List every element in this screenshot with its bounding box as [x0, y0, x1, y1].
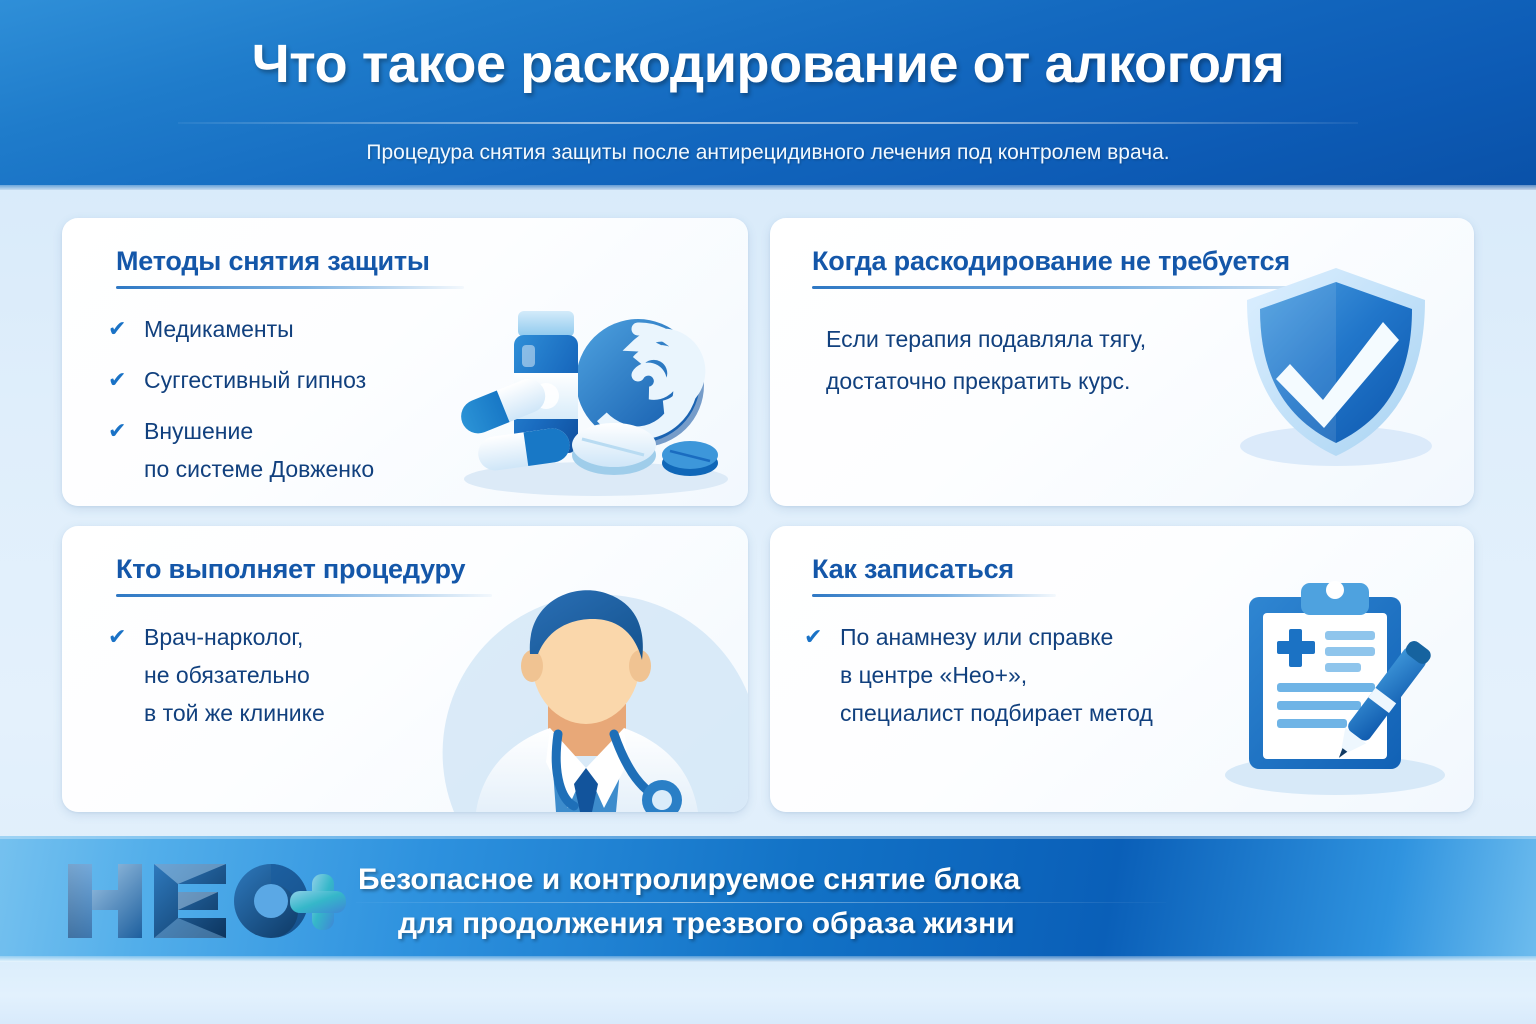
card-how-to-book-underline	[812, 594, 1056, 597]
card-when-not-needed: Когда раскодирование не требуется Если т…	[770, 218, 1474, 506]
page-title: Что такое раскодирование от алкоголя	[0, 33, 1536, 95]
card-who-performs: Кто выполняет процедуру ✔ Врач-нарколог,…	[62, 526, 748, 812]
footer-banner: Безопасное и контролируемое снятие блока…	[0, 836, 1536, 962]
card-grid: Методы снятия защиты ✔ Медикаменты ✔ Суг…	[62, 218, 1474, 812]
check-icon: ✔	[108, 619, 132, 655]
card-when-not-needed-text: Если терапия подавляла тягу, достаточно …	[826, 318, 1146, 402]
shield-check-illustration	[1229, 260, 1444, 478]
list-item-label: Внушение	[144, 418, 253, 444]
check-icon: ✔	[108, 311, 132, 347]
list-item-label: Суггестивный гипноз	[144, 367, 366, 393]
check-icon: ✔	[804, 619, 828, 655]
list-item-label: Медикаменты	[144, 316, 294, 342]
list-item-label-line2: в центре «Нео+»,	[840, 656, 1202, 694]
header-divider	[178, 122, 1358, 124]
footer-tagline-line2: для продолжения трезвого образа жизни	[356, 902, 1356, 946]
header-banner: Что такое раскодирование от алкоголя Про…	[0, 0, 1536, 190]
clipboard-pen-illustration	[1215, 575, 1450, 800]
card-methods-underline	[116, 286, 464, 289]
card-how-to-book-heading: Как записаться	[812, 554, 1014, 585]
page-subtitle: Процедура снятия защиты после антирециди…	[0, 141, 1536, 165]
list-item-label: Врач-нарколог,	[144, 624, 303, 650]
infographic-poster: Что такое раскодирование от алкоголя Про…	[0, 0, 1536, 1024]
check-icon: ✔	[108, 362, 132, 398]
check-icon: ✔	[108, 413, 132, 449]
pills-and-spiral-illustration	[446, 289, 736, 504]
card-how-to-book-bullet-list: ✔ По анамнезу или справке в центре «Нео+…	[802, 618, 1202, 745]
neo-plus-logo	[62, 858, 348, 942]
text-line-2: достаточно прекратить курс.	[826, 360, 1146, 402]
card-how-to-book: Как записаться ✔ По анамнезу или справке…	[770, 526, 1474, 812]
list-item-label-line3: специалист подбирает метод	[840, 694, 1202, 732]
doctor-illustration	[418, 562, 748, 812]
card-methods-heading: Методы снятия защиты	[116, 246, 430, 277]
list-item: ✔ По анамнезу или справке в центре «Нео+…	[802, 618, 1202, 732]
card-when-not-needed-heading: Когда раскодирование не требуется	[812, 246, 1290, 277]
card-methods: Методы снятия защиты ✔ Медикаменты ✔ Суг…	[62, 218, 748, 506]
footer-tagline-line1: Безопасное и контролируемое снятие блока	[356, 858, 1356, 902]
text-line-1: Если терапия подавляла тягу,	[826, 318, 1146, 360]
card-who-performs-heading: Кто выполняет процедуру	[116, 554, 465, 585]
list-item-label: По анамнезу или справке	[840, 624, 1113, 650]
bottom-strip	[0, 962, 1536, 1024]
footer-tagline: Безопасное и контролируемое снятие блока…	[356, 858, 1356, 946]
